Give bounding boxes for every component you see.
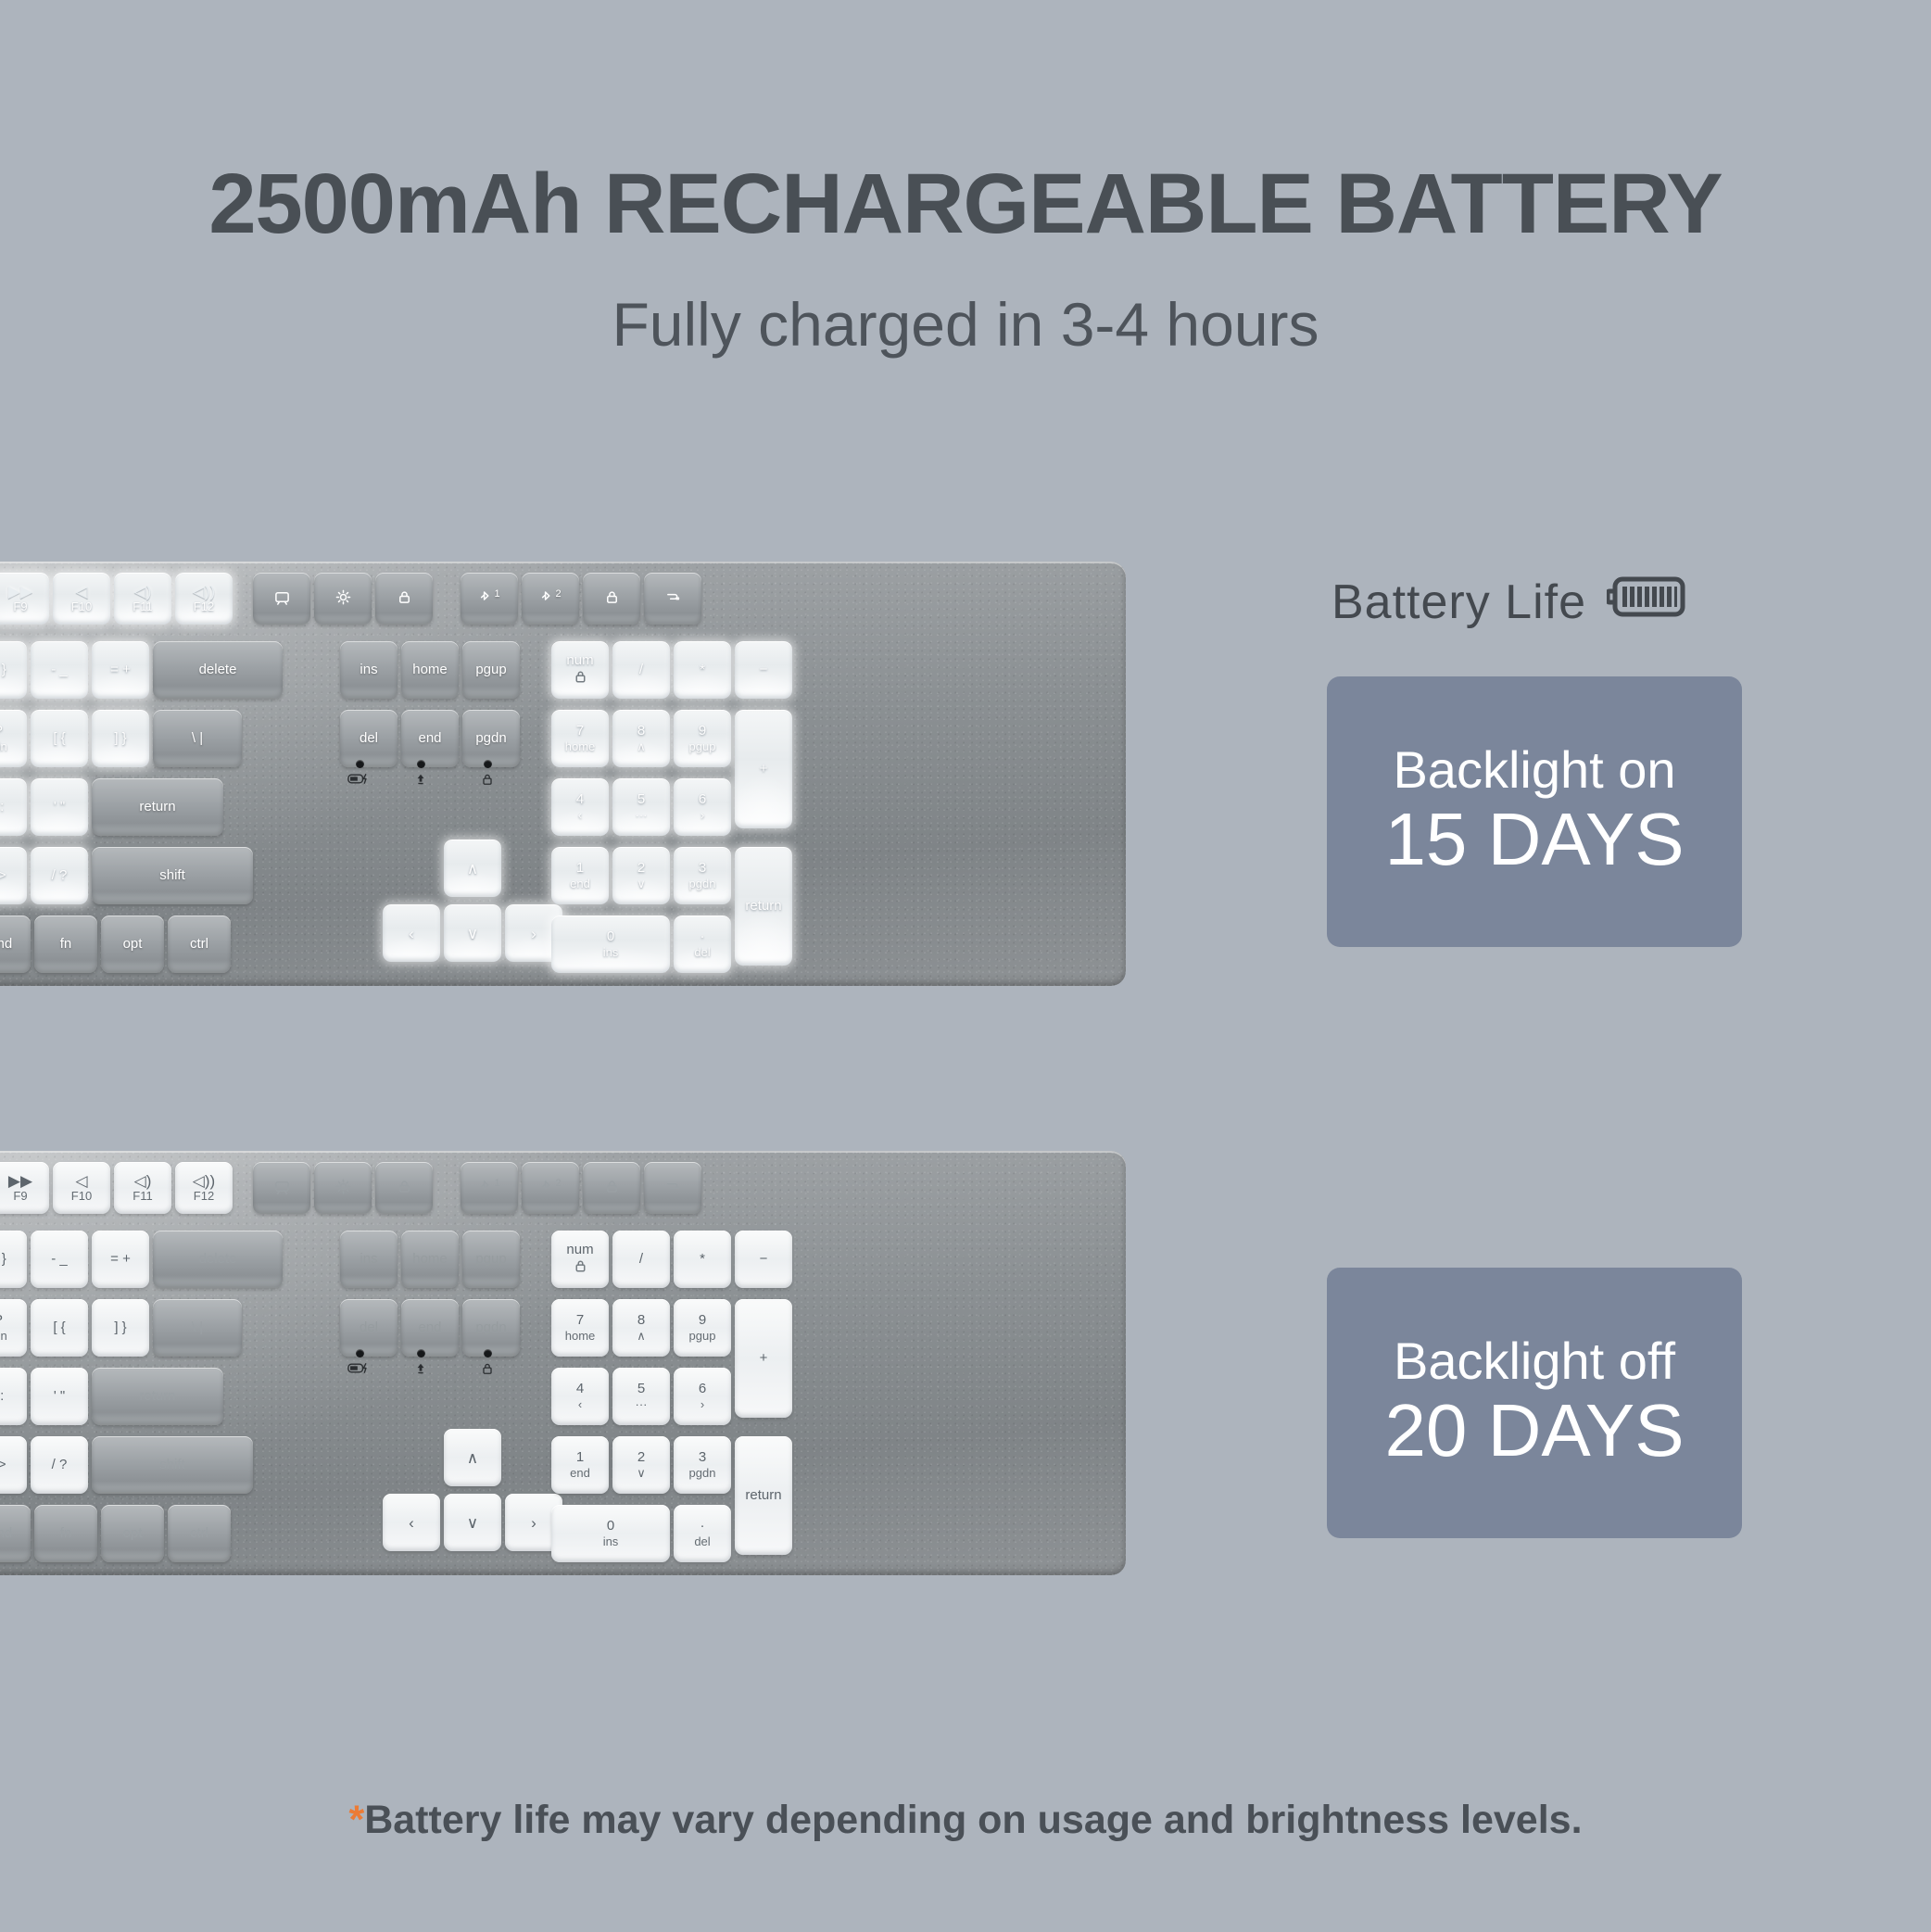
key-label: ∨ [467,926,478,941]
footnote-text: Battery life may vary depending on usage… [364,1798,1582,1842]
key-label: * [700,1251,705,1268]
key-label: F10 [71,1189,92,1203]
card-value: 20 DAYS [1384,1389,1684,1472]
key-pgdn[interactable]: pgdn [462,710,520,767]
key-sublabel: home [565,1329,596,1343]
key-label: pgup [475,1251,506,1268]
key-label: F9 [13,600,27,613]
key-0[interactable]: 0 } [0,1231,27,1288]
battery-full-icon [1607,575,1686,630]
key-label: ; : [0,799,4,815]
key-glyph [274,1179,290,1197]
led-dot [417,760,425,768]
key-label: end [418,1320,441,1336]
key-fn[interactable]: fn [34,1505,97,1562]
key-label: + [760,761,768,777]
key-cable[interactable] [644,1162,701,1214]
num-lock-led [481,1349,494,1377]
key-label: ctrl [190,1525,208,1542]
key-end[interactable]: end [401,710,459,767]
key-numpad-key[interactable]: − [735,641,792,699]
key-glyph: ◁)) [193,1173,215,1189]
key-pgup[interactable]: pgup [462,1231,520,1288]
key-glyph [335,1179,351,1197]
key-sublabel: ‹ [578,808,582,822]
key-delete[interactable]: delete [153,1231,283,1288]
key-sublabel: home [565,739,596,753]
key-numpad-0[interactable]: 0ins [551,915,670,973]
key-label: cmd [0,936,12,953]
key-glyph [335,589,351,608]
key-label: F9 [13,1189,27,1203]
keyboard-backlight-off: ☀F5☀F6⧏⧏F7▶‖F8▶▶F9◁F10◁)F11◁))F12126 ^7 … [0,1151,1126,1575]
card-title: Backlight off [1394,1334,1675,1389]
key-key[interactable]: \ | [153,710,242,767]
keyboard-backlight-on: ☀F5☀F6⧏⧏F7▶‖F8▶▶F9◁F10◁)F11◁))F12126 ^7 … [0,562,1126,986]
key-del[interactable]: del [340,710,398,767]
key-label: * [700,662,705,678]
key-label: 1 [576,1449,584,1466]
key-label: ∧ [467,861,478,877]
key-numpad-1[interactable]: 1end [551,847,609,904]
key-label: 6 [699,1381,706,1397]
key-label: return [139,799,175,815]
num-lock-led [481,760,494,788]
key-sublabel: ‹ [578,1397,582,1411]
card-title: Backlight on [1393,743,1675,798]
led-icon [414,773,427,788]
key-label: 0 } [0,662,6,678]
key-label: delete [199,1251,237,1268]
key-label: del [360,1320,378,1336]
key-del[interactable]: del [340,1299,398,1357]
key-label: ins [360,662,377,678]
key-numpad-key[interactable]: + [735,710,792,828]
led-icon [481,773,494,788]
key-label: 9 [699,723,706,739]
key-arrow-up[interactable]: ∧ [444,840,501,897]
caps-lock-led [414,760,427,788]
key-numpad-key[interactable]: * [674,641,731,699]
key-f10[interactable]: ◁F10 [53,573,110,625]
key-numpad-2[interactable]: 2∨ [612,847,670,904]
key-glyph [665,589,681,608]
key-label: › [531,926,536,941]
key-label: \ | [192,730,203,747]
key-key[interactable]: / ? [31,847,88,904]
key-ctrl[interactable]: ctrl [168,915,231,973]
key-screenshot[interactable] [253,573,310,625]
key-bluetooth-2[interactable]: 2 [522,1162,579,1214]
key-key[interactable]: [ { [31,710,88,767]
key-label: return [745,1487,781,1504]
key-numpad-6[interactable]: 6› [674,1368,731,1425]
key-key[interactable]: . > [0,1436,27,1494]
key-label: ] } [114,1320,126,1336]
key-label: · [700,1518,705,1534]
key-glyph: 1 [478,1179,499,1197]
key-label: 3 [699,1449,706,1466]
key-label: 8 [637,1312,645,1329]
key-numpad-7[interactable]: 7home [551,1299,609,1357]
key-label: 5 [637,1381,645,1397]
key-key[interactable]: ; : [0,1368,27,1425]
key-label: 7 [576,723,584,739]
key-label: / ? [52,867,68,884]
key-glyph [665,1179,681,1197]
key-sublabel: del [694,945,710,959]
led-dot [484,760,492,768]
key-label: P [0,1312,3,1329]
key-key[interactable]: ' " [31,778,88,836]
card-value: 15 DAYS [1384,798,1684,881]
key-delete[interactable]: delete [153,641,283,699]
key-label: ‹ [409,926,414,941]
key-f12[interactable]: ◁))F12 [175,573,233,625]
key-label: - _ [51,1251,68,1268]
key-sublabel: › [700,1397,704,1411]
key-numpad-2[interactable]: 2∨ [612,1436,670,1494]
key-label: ∧ [467,1450,478,1466]
key-label: 8 [637,723,645,739]
key-label: return [745,898,781,915]
key-numpad-key[interactable]: − [735,1231,792,1288]
key-sublabel: ∧ [637,739,646,753]
led-icon [481,1362,494,1377]
battery-charging-led [347,760,372,787]
key-label: pgdn [475,1320,506,1336]
key-sublabel: end [570,877,590,890]
key-key[interactable]: ; : [0,778,27,836]
key-numpad-7[interactable]: 7home [551,710,609,767]
key-numpad-3[interactable]: 3pgdn [674,1436,731,1494]
key-label: F10 [71,600,92,613]
key-label: 0 [607,1518,614,1534]
key-sublabel: pgup [689,1329,716,1343]
key-label: = + [110,1251,131,1268]
key-arrow-left[interactable]: ‹ [383,1494,440,1551]
key-f10[interactable]: ◁F10 [53,1162,110,1214]
key-lock-2[interactable] [583,1162,640,1214]
key-label: home [412,662,448,678]
key-label: ‹ [409,1515,414,1531]
key-numpad-3[interactable]: 3pgdn [674,847,731,904]
key-glyph: ▶▶ [8,1173,32,1189]
key-sublabel: ∨ [637,1466,646,1480]
key-brightness[interactable] [314,573,372,625]
key-numpad-num[interactable]: num [551,1231,609,1288]
key-label: F11 [133,1189,152,1203]
key-numpad-9[interactable]: 9pgup [674,1299,731,1357]
key-sublabel [573,1258,588,1277]
key-glyph: ◁)) [193,584,215,600]
key-numpad-5[interactable]: 5··· [612,778,670,836]
key-f9[interactable]: ▶▶F9 [0,573,49,625]
key-label: num [566,1242,593,1258]
key-sublabel: ··· [636,808,648,822]
page-title: 2500mAh RECHARGEABLE BATTERY [0,156,1931,253]
key-sublabel: › [700,808,704,822]
key-p[interactable]: Pwin [0,710,27,767]
key-f11[interactable]: ◁)F11 [114,1162,171,1214]
key-label: shift [159,1457,185,1473]
key-glyph [397,1179,412,1197]
key-ins[interactable]: ins [340,641,398,699]
key-ins[interactable]: ins [340,1231,398,1288]
key-label: pgdn [475,730,506,747]
battery-card-backlight-off: Backlight off 20 DAYS [1327,1268,1742,1538]
key-label: 4 [576,791,584,808]
key-sublabel: ins [603,945,619,959]
key-label: P [0,723,3,739]
key-sublabel: ins [603,1534,619,1548]
key-sublabel [573,669,588,688]
key-glyph: 2 [539,1179,561,1197]
key-sublabel: pgup [689,739,716,753]
key-key[interactable]: [ { [31,1299,88,1357]
key-label: 9 [699,1312,706,1329]
key-glyph: 2 [539,589,561,608]
key-label: return [139,1388,175,1405]
led-dot [356,760,364,768]
key-numpad-key[interactable]: * [674,1231,731,1288]
key-label: [ { [53,730,65,747]
keyboard-keys: ☀F5☀F6⧏⧏F7▶‖F8▶▶F9◁F10◁)F11◁))F12126 ^7 … [0,562,1126,986]
key-key[interactable]: - _ [31,1231,88,1288]
key-pgdn[interactable]: pgdn [462,1299,520,1357]
key-label: opt [123,1525,143,1542]
key-glyph: ◁ [75,584,87,600]
key-label: end [418,730,441,747]
key-numpad-5[interactable]: 5··· [612,1368,670,1425]
key-label: 2 [637,860,645,877]
key-p[interactable]: Pwin [0,1299,27,1357]
key-glyph [604,589,620,608]
key-label: pgup [475,662,506,678]
key-numpad-key[interactable]: / [612,641,670,699]
key-cmd[interactable]: cmd [0,915,31,973]
key-label: 2 [637,1449,645,1466]
key-numpad-decimal[interactable]: ·del [674,1505,731,1562]
key-home[interactable]: home [401,641,459,699]
key-sublabel: ∨ [637,877,646,890]
battery-card-backlight-on: Backlight on 15 DAYS [1327,676,1742,947]
key-glyph [604,1179,620,1197]
key-key[interactable]: . > [0,847,27,904]
key-sublabel: pgdn [689,1466,716,1480]
led-dot [356,1349,364,1357]
key-key[interactable]: ] } [92,710,149,767]
key-label: ins [360,1251,377,1268]
page-subtitle: Fully charged in 3-4 hours [0,289,1931,360]
key-label: 5 [637,791,645,808]
key-opt[interactable]: opt [101,915,164,973]
key-sublabel: pgdn [689,877,716,890]
key-label: ' " [54,799,65,815]
key-glyph [274,589,290,608]
key-label: − [760,662,768,678]
key-numpad-0[interactable]: 0ins [551,1505,670,1562]
key-numpad-4[interactable]: 4‹ [551,1368,609,1425]
key-brightness[interactable] [314,1162,372,1214]
key-label: ; : [0,1388,4,1405]
led-dot [484,1349,492,1357]
key-end[interactable]: end [401,1299,459,1357]
led-dot [417,1349,425,1357]
key-glyph: ▶▶ [8,584,32,600]
key-label: shift [159,867,185,884]
key-f9[interactable]: ▶▶F9 [0,1162,49,1214]
key-shift[interactable]: shift [92,847,253,904]
battery-life-heading: Battery Life [1332,575,1686,630]
caps-lock-led [414,1349,427,1377]
key-label: cmd [0,1525,12,1542]
key-key[interactable]: = + [92,641,149,699]
key-numpad-key[interactable]: + [735,1299,792,1418]
key-label: 1 [576,860,584,877]
key-label: . > [0,1457,6,1473]
key-label: F11 [133,600,152,613]
key-glyph [397,589,412,608]
led-icon [347,773,372,787]
key-lock[interactable] [375,573,433,625]
key-numpad-key[interactable]: / [612,1231,670,1288]
key-bluetooth-2[interactable]: 2 [522,573,579,625]
key-home[interactable]: home [401,1231,459,1288]
key-label: - _ [51,662,68,678]
key-label: / [639,662,643,678]
key-sublabel: ∧ [637,1329,646,1343]
key-label: = + [110,662,131,678]
battery-life-label-text: Battery Life [1332,575,1586,630]
key-bluetooth-1[interactable]: 1 [461,1162,518,1214]
key-shift[interactable]: shift [92,1436,253,1494]
key-screenshot[interactable] [253,1162,310,1214]
key-glyph: ◁) [134,1173,152,1189]
key-key[interactable]: ' " [31,1368,88,1425]
key-sublabel: win [0,1329,7,1343]
key-numpad-decimal[interactable]: ·del [674,915,731,973]
key-label: F12 [194,1189,214,1203]
key-label: 3 [699,860,706,877]
key-label: · [700,928,705,945]
key-fn[interactable]: fn [34,915,97,973]
key-lock-2[interactable] [583,573,640,625]
key-label: F12 [194,600,214,613]
key-numpad-num[interactable]: num [551,641,609,699]
key-label: fn [60,1525,72,1542]
key-label: opt [123,936,143,953]
key-key[interactable]: / ? [31,1436,88,1494]
key-label: home [412,1251,448,1268]
footnote: *Battery life may vary depending on usag… [0,1798,1931,1843]
key-label: [ { [53,1320,65,1336]
key-arrow-left[interactable]: ‹ [383,904,440,962]
key-pgup[interactable]: pgup [462,641,520,699]
key-label: ctrl [190,936,208,953]
key-label: 4 [576,1381,584,1397]
key-0[interactable]: 0 } [0,641,27,699]
key-numpad-6[interactable]: 6› [674,778,731,836]
key-label: ] } [114,730,126,747]
key-label: 7 [576,1312,584,1329]
key-label: \ | [192,1320,203,1336]
key-label: − [760,1251,768,1268]
led-icon [414,1362,427,1377]
key-label: num [566,652,593,669]
key-label: ' " [54,1388,65,1405]
key-opt[interactable]: opt [101,1505,164,1562]
key-numpad-8[interactable]: 8∧ [612,1299,670,1357]
key-label: del [360,730,378,747]
key-numpad-return[interactable]: return [735,1436,792,1555]
key-label: . > [0,867,6,884]
key-label: 0 } [0,1251,6,1268]
key-numpad-8[interactable]: 8∧ [612,710,670,767]
key-cmd[interactable]: cmd [0,1505,31,1562]
key-numpad-4[interactable]: 4‹ [551,778,609,836]
key-sublabel: ··· [636,1397,648,1411]
footnote-asterisk: * [348,1798,364,1842]
key-arrow-down[interactable]: ∨ [444,1494,501,1551]
key-cable[interactable] [644,573,701,625]
key-label: 6 [699,791,706,808]
key-f12[interactable]: ◁))F12 [175,1162,233,1214]
key-numpad-9[interactable]: 9pgup [674,710,731,767]
key-glyph: ◁) [134,584,152,600]
key-key[interactable]: = + [92,1231,149,1288]
key-arrow-up[interactable]: ∧ [444,1429,501,1486]
key-label: / ? [52,1457,68,1473]
key-lock[interactable] [375,1162,433,1214]
key-numpad-1[interactable]: 1end [551,1436,609,1494]
key-label: delete [199,662,237,678]
key-bluetooth-1[interactable]: 1 [461,573,518,625]
battery-charging-led [347,1349,372,1376]
key-label: / [639,1251,643,1268]
key-sublabel: win [0,739,7,753]
key-glyph: 1 [478,589,499,608]
key-label: › [531,1515,536,1531]
key-return[interactable]: return [92,778,223,836]
key-key[interactable]: \ | [153,1299,242,1357]
key-label: ∨ [467,1515,478,1531]
key-label: 0 [607,928,614,945]
key-glyph: ◁ [75,1173,87,1189]
led-icon [347,1362,372,1376]
key-key[interactable]: - _ [31,641,88,699]
key-ctrl[interactable]: ctrl [168,1505,231,1562]
key-sublabel: del [694,1534,710,1548]
key-label: fn [60,936,72,953]
key-return[interactable]: return [92,1368,223,1425]
keyboard-keys: ☀F5☀F6⧏⧏F7▶‖F8▶▶F9◁F10◁)F11◁))F12126 ^7 … [0,1151,1126,1575]
key-arrow-down[interactable]: ∨ [444,904,501,962]
key-f11[interactable]: ◁)F11 [114,573,171,625]
key-sublabel: end [570,1466,590,1480]
key-label: + [760,1350,768,1367]
key-numpad-return[interactable]: return [735,847,792,966]
key-key[interactable]: ] } [92,1299,149,1357]
